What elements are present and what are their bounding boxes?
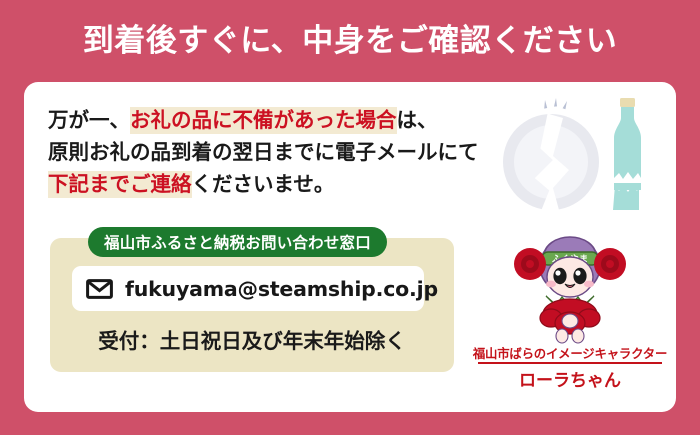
mascot-rola-chan-icon: ふくやま bbox=[494, 222, 646, 344]
mascot-name: ローラちゃん bbox=[472, 366, 668, 391]
notice-paragraph: 万が一、お礼の品に不備があった場合は、 原則お礼の品到着の翌日までに電子メールに… bbox=[48, 104, 488, 200]
mascot-caption: 福山市ばらのイメージキャラクター bbox=[472, 344, 668, 362]
mascot-divider bbox=[478, 362, 662, 364]
contact-pill-label: 福山市ふるさと納税お問い合わせ窓口 bbox=[104, 231, 371, 253]
content-card: 万が一、お礼の品に不備があった場合は、 原則お礼の品到着の翌日までに電子メールに… bbox=[24, 82, 676, 412]
contact-pill-badge: 福山市ふるさと納税お問い合わせ窓口 bbox=[88, 227, 387, 257]
envelope-icon bbox=[86, 279, 113, 299]
header-banner: 到着後すぐに、中身をご確認ください bbox=[0, 0, 700, 82]
notice-line-3-suffix: くださいませ。 bbox=[192, 172, 335, 196]
notice-line-1-prefix: 万が一、 bbox=[48, 108, 130, 132]
notice-line-1: 万が一、お礼の品に不備があった場合は、 bbox=[48, 104, 488, 136]
page-title: 到着後すぐに、中身をご確認ください bbox=[83, 26, 618, 57]
contact-box: 福山市ふるさと納税お問い合わせ窓口 fukuyama@steamship.co.… bbox=[50, 238, 454, 372]
broken-items-icon bbox=[479, 90, 669, 220]
notice-line-2: 原則お礼の品到着の翌日までに電子メールにて bbox=[48, 136, 488, 168]
notice-line-2-text: 原則お礼の品到着の翌日までに電子メールにて bbox=[48, 140, 479, 164]
email-address: fukuyama@steamship.co.jp bbox=[125, 277, 438, 301]
reception-hours: 受付：土日祝日及び年末年始除く bbox=[50, 324, 454, 354]
promo-notice-page: 到着後すぐに、中身をご確認ください 万が一、お礼の品に不備があった場合は、 原則… bbox=[0, 0, 700, 435]
email-field[interactable]: fukuyama@steamship.co.jp bbox=[72, 266, 424, 311]
notice-line-3: 下記までご連絡くださいませ。 bbox=[48, 168, 488, 200]
notice-line-1-highlight: お礼の品に不備があった場合 bbox=[130, 107, 397, 134]
notice-line-3-highlight: 下記までご連絡 bbox=[48, 171, 192, 198]
notice-line-1-suffix: は、 bbox=[397, 108, 438, 132]
mascot-block: ふくやま bbox=[472, 222, 668, 394]
